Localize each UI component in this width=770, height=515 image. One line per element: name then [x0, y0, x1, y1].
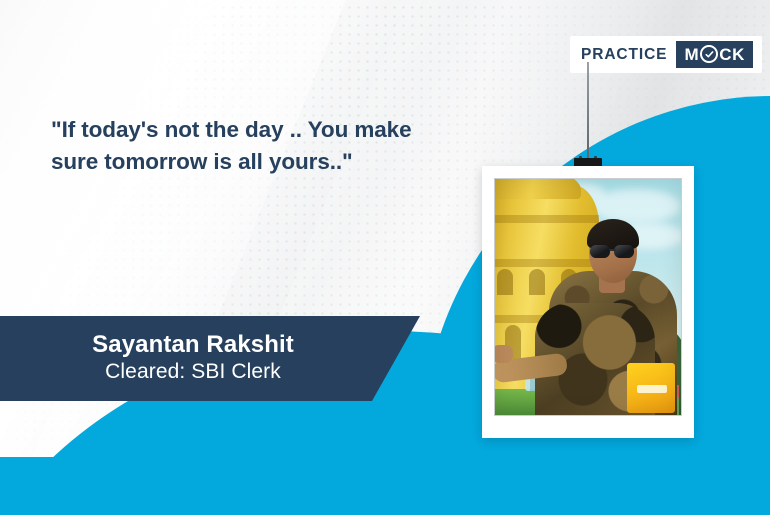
- check-circle-icon: [700, 45, 718, 63]
- logo-practice-text: PRACTICE: [581, 46, 667, 64]
- sunglasses-lens-right: [614, 245, 634, 258]
- photo-person-sunglasses: [589, 245, 637, 258]
- student-name: Sayantan Rakshit: [0, 331, 386, 359]
- student-name-banner: Sayantan Rakshit Cleared: SBI Clerk: [0, 316, 420, 401]
- photo-temple-arch: [497, 269, 513, 295]
- hanging-wire-icon: [587, 62, 589, 158]
- sunglasses-bridge: [610, 249, 616, 251]
- testimonial-card: PRACTICE M CK "If today's not the day ..…: [0, 0, 770, 515]
- photo-temple-arch: [529, 269, 545, 295]
- polaroid-frame: [482, 166, 694, 438]
- photo-temple-band: [494, 259, 599, 267]
- photo-temple-band: [494, 215, 599, 223]
- testimonial-quote: "If today's not the day .. You make sure…: [51, 114, 451, 178]
- student-exam-cleared: Cleared: SBI Clerk: [0, 359, 386, 385]
- student-photo: [494, 178, 682, 416]
- photo-bag-label: [637, 385, 667, 393]
- logo-mock-badge: M CK: [676, 41, 753, 68]
- sunglasses-lens-left: [590, 245, 610, 258]
- logo-mock-suffix: CK: [719, 46, 745, 63]
- logo-mock-prefix: M: [684, 46, 699, 63]
- photo-person-hand: [494, 345, 513, 363]
- photo-temple-dome: [494, 178, 581, 199]
- practicemock-logo[interactable]: PRACTICE M CK: [570, 36, 762, 73]
- cyan-bottom-bar: [0, 457, 770, 515]
